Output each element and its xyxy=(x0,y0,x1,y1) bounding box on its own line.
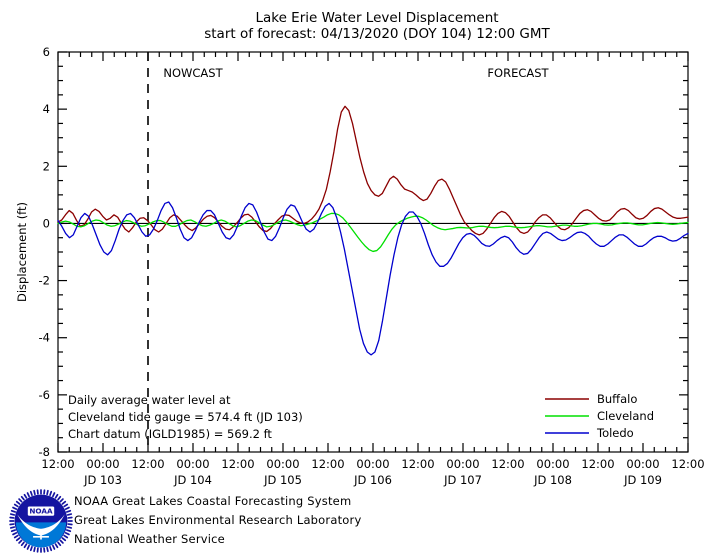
x-tick-label: 12:00 xyxy=(131,457,164,471)
x-tick-label: 00:00 xyxy=(176,457,209,471)
y-tick-label: -6 xyxy=(39,388,50,402)
x-tick-label: 12:00 xyxy=(401,457,434,471)
x-tick-label: 12:00 xyxy=(221,457,254,471)
x-day-label: JD 108 xyxy=(533,473,572,487)
footer-line-2: Great Lakes Environmental Research Labor… xyxy=(74,511,361,530)
footer-text-block: NOAA Great Lakes Coastal Forecasting Sys… xyxy=(74,492,361,549)
forecast-label: FORECAST xyxy=(487,66,549,80)
footer-line-3: National Weather Service xyxy=(74,530,361,549)
annotation-line-2: Cleveland tide gauge = 574.4 ft (JD 103) xyxy=(68,410,303,424)
x-tick-label: 12:00 xyxy=(41,457,74,471)
x-day-label: JD 105 xyxy=(263,473,302,487)
x-tick-label: 12:00 xyxy=(491,457,524,471)
legend-label-toledo: Toledo xyxy=(596,426,634,440)
x-tick-label: 12:00 xyxy=(581,457,614,471)
x-tick-label: 00:00 xyxy=(356,457,389,471)
footer-line-1: NOAA Great Lakes Coastal Forecasting Sys… xyxy=(74,492,361,511)
y-tick-label: -4 xyxy=(39,331,50,345)
x-tick-label: 00:00 xyxy=(626,457,659,471)
x-tick-label: 00:00 xyxy=(536,457,569,471)
y-axis-label: Displacement (ft) xyxy=(15,202,29,302)
annotation-line-1: Daily average water level at xyxy=(68,393,231,407)
footer: NOAA NOAA Great Lakes Coastal Forecastin… xyxy=(0,486,720,560)
legend-label-buffalo: Buffalo xyxy=(597,392,637,406)
x-day-label: JD 107 xyxy=(443,473,482,487)
y-tick-label: 0 xyxy=(43,216,50,230)
x-day-label: JD 103 xyxy=(83,473,122,487)
x-tick-label: 00:00 xyxy=(86,457,119,471)
y-tick-label: 2 xyxy=(43,159,50,173)
y-tick-label: 4 xyxy=(43,102,50,116)
x-tick-label: 00:00 xyxy=(446,457,479,471)
noaa-logo: NOAA xyxy=(8,488,74,554)
nowcast-label: NOWCAST xyxy=(163,66,223,80)
x-tick-label: 00:00 xyxy=(266,457,299,471)
y-tick-label: 6 xyxy=(43,45,50,59)
legend-label-cleveland: Cleveland xyxy=(597,409,654,423)
chart-subtitle: start of forecast: 04/13/2020 (DOY 104) … xyxy=(204,26,550,42)
annotation-line-3: Chart datum (IGLD1985) = 569.2 ft xyxy=(68,427,272,441)
x-day-label: JD 109 xyxy=(623,473,662,487)
water-level-chart: Lake Erie Water Level Displacement start… xyxy=(0,0,720,490)
noaa-wordmark-text: NOAA xyxy=(29,507,53,516)
page-title: Lake Erie Water Level Displacement xyxy=(255,10,498,26)
x-day-label: JD 106 xyxy=(353,473,392,487)
x-day-label: JD 104 xyxy=(173,473,212,487)
y-tick-label: -2 xyxy=(39,274,50,288)
chart-page: Lake Erie Water Level Displacement start… xyxy=(0,0,720,560)
x-tick-label: 12:00 xyxy=(671,457,704,471)
x-tick-label: 12:00 xyxy=(311,457,344,471)
